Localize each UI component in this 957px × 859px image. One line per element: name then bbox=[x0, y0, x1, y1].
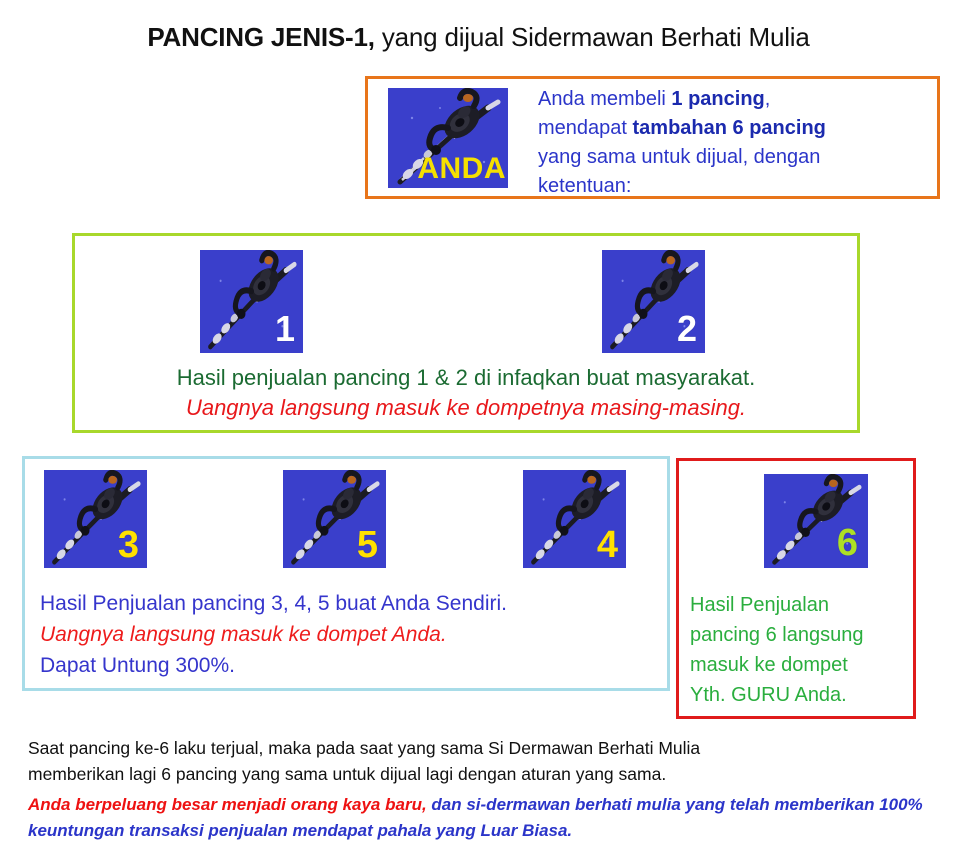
anda-line2-a: mendapat bbox=[538, 117, 633, 139]
anda-line1-c: , bbox=[765, 88, 771, 110]
rod-thumbnail-1: 1 bbox=[200, 250, 303, 353]
rod-number-2: 2 bbox=[677, 311, 697, 347]
anda-description: Anda membeli 1 pancing, mendapat tambaha… bbox=[538, 85, 936, 201]
rod-thumbnail-4: 4 bbox=[523, 470, 626, 568]
footer-p2-red: Anda berpeluang besar menjadi orang kaya… bbox=[28, 795, 427, 814]
footer-paragraph-1: Saat pancing ke-6 laku terjual, maka pad… bbox=[28, 735, 928, 787]
red-line-1: Hasil Penjualan bbox=[690, 590, 908, 620]
rod-thumbnail-anda: ANDA bbox=[388, 88, 508, 188]
green-line-1: Hasil penjualan pancing 1 & 2 di infaqka… bbox=[75, 363, 857, 393]
anda-line4: ketentuan: bbox=[538, 175, 631, 197]
anda-line3: yang sama untuk dijual, dengan bbox=[538, 146, 820, 168]
cyan-line-1: Hasil Penjualan pancing 3, 4, 5 buat And… bbox=[40, 588, 660, 619]
cyan-line-2: Uangnya langsung masuk ke dompet Anda. bbox=[40, 619, 660, 650]
cyan-panel-description: Hasil Penjualan pancing 3, 4, 5 buat And… bbox=[40, 588, 660, 681]
anda-line2-b: tambahan 6 pancing bbox=[633, 117, 826, 139]
red-line-4: Yth. GURU Anda. bbox=[690, 680, 908, 710]
rod-thumbnail-3: 3 bbox=[44, 470, 147, 568]
footer-p1-line2: memberikan lagi 6 pancing yang sama untu… bbox=[28, 761, 928, 787]
green-line-2: Uangnya langsung masuk ke dompetnya masi… bbox=[75, 393, 857, 423]
footer-paragraph-2: Anda berpeluang besar menjadi orang kaya… bbox=[28, 792, 928, 844]
rod-number-5: 5 bbox=[357, 526, 378, 564]
red-line-3: masuk ke dompet bbox=[690, 650, 908, 680]
footer-p1-line1: Saat pancing ke-6 laku terjual, maka pad… bbox=[28, 735, 928, 761]
rod-number-3: 3 bbox=[118, 526, 139, 564]
cyan-line-3: Dapat Untung 300%. bbox=[40, 650, 660, 681]
page-title: PANCING JENIS-1, yang dijual Sidermawan … bbox=[0, 22, 957, 53]
rod-label-anda: ANDA bbox=[417, 154, 506, 184]
anda-line1-a: Anda membeli bbox=[538, 88, 671, 110]
green-panel-description: Hasil penjualan pancing 1 & 2 di infaqka… bbox=[75, 363, 857, 423]
anda-line1-b: 1 pancing bbox=[671, 88, 764, 110]
rod-number-4: 4 bbox=[597, 526, 618, 564]
rod-number-6: 6 bbox=[837, 524, 858, 562]
page-title-bold: PANCING JENIS-1, bbox=[147, 22, 374, 52]
page-title-rest: yang dijual Sidermawan Berhati Mulia bbox=[375, 22, 810, 52]
rod-thumbnail-6: 6 bbox=[764, 474, 868, 568]
rod-thumbnail-5: 5 bbox=[283, 470, 386, 568]
red-panel-description: Hasil Penjualan pancing 6 langsung masuk… bbox=[690, 590, 908, 710]
rod-number-1: 1 bbox=[275, 311, 295, 347]
poster-root: PANCING JENIS-1, yang dijual Sidermawan … bbox=[0, 0, 957, 859]
red-line-2: pancing 6 langsung bbox=[690, 620, 908, 650]
rod-thumbnail-2: 2 bbox=[602, 250, 705, 353]
